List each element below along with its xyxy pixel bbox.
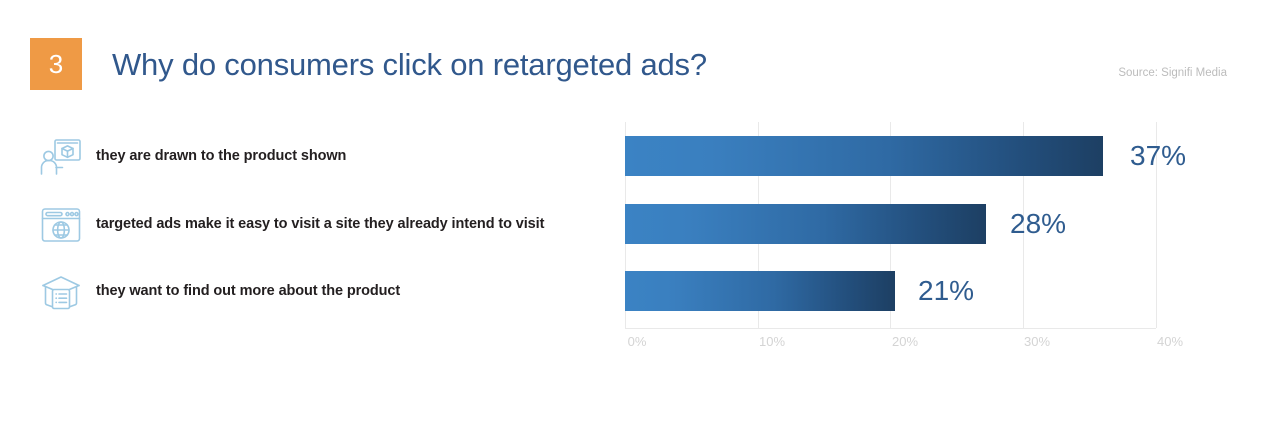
- table-row: they want to find out more about the pro…: [0, 268, 1280, 314]
- bar-chart: they are drawn to the product shown 37%: [0, 110, 1280, 370]
- section-number: 3: [49, 51, 63, 77]
- x-tick-10: 10%: [759, 334, 785, 349]
- bar-0: [625, 136, 1103, 176]
- page-title: Why do consumers click on retargeted ads…: [112, 47, 707, 83]
- x-tick-40: 40%: [1157, 334, 1183, 349]
- table-row: they are drawn to the product shown 37%: [0, 133, 1280, 179]
- section-number-badge: 3: [30, 38, 82, 90]
- bar-1: [625, 204, 986, 244]
- x-tick-0: 0%: [628, 334, 647, 349]
- infographic-slide: 3 Why do consumers click on retargeted a…: [0, 0, 1280, 439]
- category-label: targeted ads make it easy to visit a sit…: [96, 201, 544, 247]
- x-tick-30: 30%: [1024, 334, 1050, 349]
- category-label: they are drawn to the product shown: [96, 133, 346, 179]
- category-label: they want to find out more about the pro…: [96, 268, 400, 314]
- open-box-list-icon: [38, 269, 84, 315]
- x-tick-20: 20%: [892, 334, 918, 349]
- x-axis-line: [625, 328, 1156, 329]
- slide-header: 3 Why do consumers click on retargeted a…: [0, 0, 1280, 110]
- browser-globe-icon: [38, 202, 84, 248]
- bar-value-2: 21%: [918, 268, 974, 314]
- bar-value-0: 37%: [1130, 133, 1186, 179]
- table-row: targeted ads make it easy to visit a sit…: [0, 201, 1280, 247]
- bar-value-1: 28%: [1010, 201, 1066, 247]
- bar-2: [625, 271, 895, 311]
- source-attribution: Source: Signifi Media: [1118, 67, 1227, 79]
- person-presenting-product-icon: [38, 134, 84, 180]
